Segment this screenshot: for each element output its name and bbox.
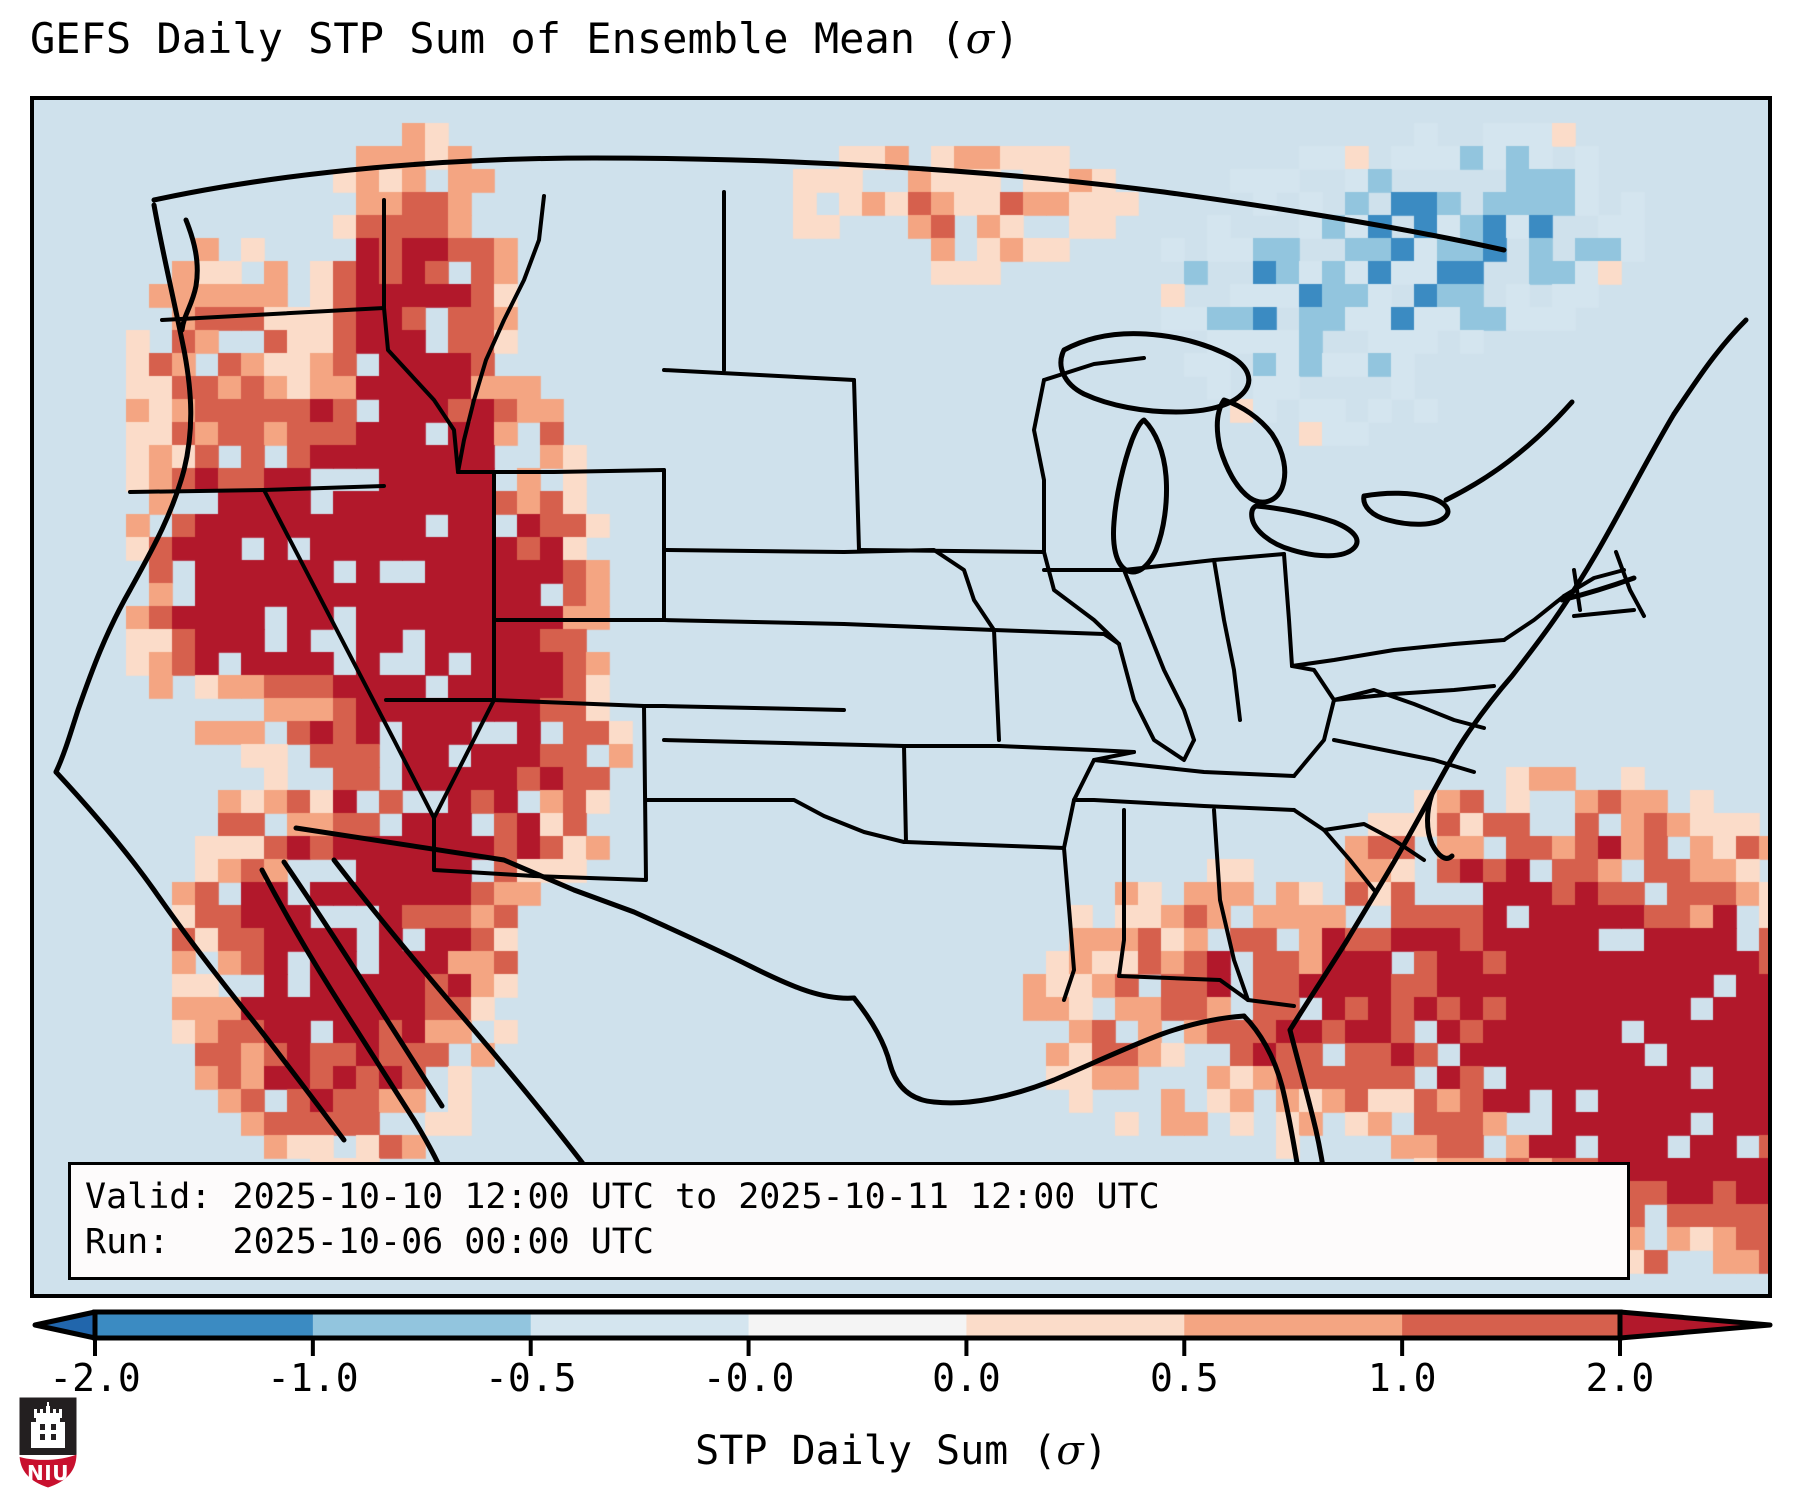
colorbar-segment [1402, 1312, 1620, 1338]
colorbar-tick-label: -0.5 [485, 1356, 577, 1400]
colorbar-segment [313, 1312, 531, 1338]
sigma-symbol-colorbar: σ [1056, 1428, 1083, 1474]
page-title-suffix: ) [994, 14, 1019, 63]
colorbar-label-text: STP Daily Sum ( [695, 1428, 1056, 1474]
info-line-run: Run: 2025-10-06 00:00 UTC [85, 1220, 1613, 1265]
info-line-valid: Valid: 2025-10-10 12:00 UTC to 2025-10-1… [85, 1175, 1613, 1220]
colorbar-tick-label: 2.0 [1586, 1356, 1655, 1400]
page-title: GEFS Daily STP Sum of Ensemble Mean (σ) [30, 14, 1020, 63]
colorbar-tick-label: 0.5 [1150, 1356, 1219, 1400]
logo-text: NIU [27, 1461, 69, 1485]
stp-heatmap-grid [34, 100, 1768, 1294]
info-text-box: Valid: 2025-10-10 12:00 UTC to 2025-10-1… [68, 1162, 1630, 1280]
colorbar-segment [749, 1312, 967, 1338]
colorbar-segment [966, 1312, 1184, 1338]
colorbar-label-suffix: ) [1084, 1428, 1108, 1474]
sigma-symbol: σ [966, 14, 995, 63]
colorbar-segment [1184, 1312, 1402, 1338]
colorbar-tick-label: -1.0 [267, 1356, 359, 1400]
colorbar-segment [531, 1312, 749, 1338]
colorbar[interactable]: -2.0-1.0-0.5-0.00.00.51.02.0 STP Daily S… [0, 1300, 1803, 1506]
colorbar-tick-label: 1.0 [1368, 1356, 1437, 1400]
colorbar-tick-label: 0.0 [932, 1356, 1001, 1400]
niu-shield-logo: NIU [14, 1392, 82, 1492]
map-panel[interactable]: Valid: 2025-10-10 12:00 UTC to 2025-10-1… [30, 96, 1772, 1298]
colorbar-tick-label: -0.0 [703, 1356, 795, 1400]
colorbar-segment [95, 1312, 313, 1338]
colorbar-over-arrow [1620, 1312, 1770, 1338]
colorbar-swatches [0, 1300, 1803, 1360]
colorbar-axis-label: STP Daily Sum (σ) [0, 1428, 1803, 1474]
page-title-text: GEFS Daily STP Sum of Ensemble Mean ( [30, 14, 966, 63]
colorbar-under-arrow [35, 1312, 95, 1338]
